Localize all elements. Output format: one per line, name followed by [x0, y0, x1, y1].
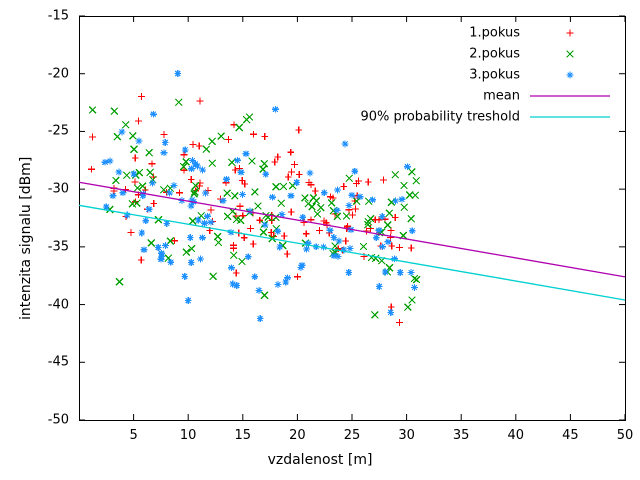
x-tick-label: 50	[617, 428, 634, 443]
x-tick-label: 20	[289, 428, 306, 443]
x-tick-label: 30	[398, 428, 415, 443]
y-tick-label: -30	[30, 182, 69, 197]
series-3.pokus	[102, 70, 418, 322]
y-tick-label: -25	[30, 124, 69, 139]
y-tick-label: -50	[30, 413, 69, 428]
legend-label-5: 90% probability treshold	[150, 110, 520, 125]
legend-sample-marker-1	[567, 30, 574, 37]
legend-label-3: 3.pokus	[150, 68, 520, 83]
x-tick-label: 45	[562, 428, 579, 443]
x-axis-label: vzdalenost [m]	[0, 452, 640, 468]
legend-sample-marker-3	[567, 72, 574, 79]
series-2.pokus	[89, 99, 420, 318]
x-tick-label: 10	[180, 428, 197, 443]
x-tick-label: 5	[129, 428, 137, 443]
chart-container: intenzita signalu [dBm] vzdalenost [m] 5…	[0, 0, 640, 480]
y-tick-label: -40	[30, 297, 69, 312]
x-tick-label: 40	[508, 428, 525, 443]
legend-label-1: 1.pokus	[150, 26, 520, 41]
x-tick-label: 35	[453, 428, 470, 443]
legend-label-2: 2.pokus	[150, 47, 520, 62]
y-tick-label: -20	[30, 66, 69, 81]
y-tick-label: -35	[30, 239, 69, 254]
x-tick-label: 15	[235, 428, 252, 443]
y-tick-label: -45	[30, 355, 69, 370]
y-tick-label: -15	[30, 9, 69, 24]
x-tick-label: 25	[344, 428, 361, 443]
legend-label-4: mean	[150, 89, 520, 104]
legend-sample-marker-2	[567, 51, 574, 58]
